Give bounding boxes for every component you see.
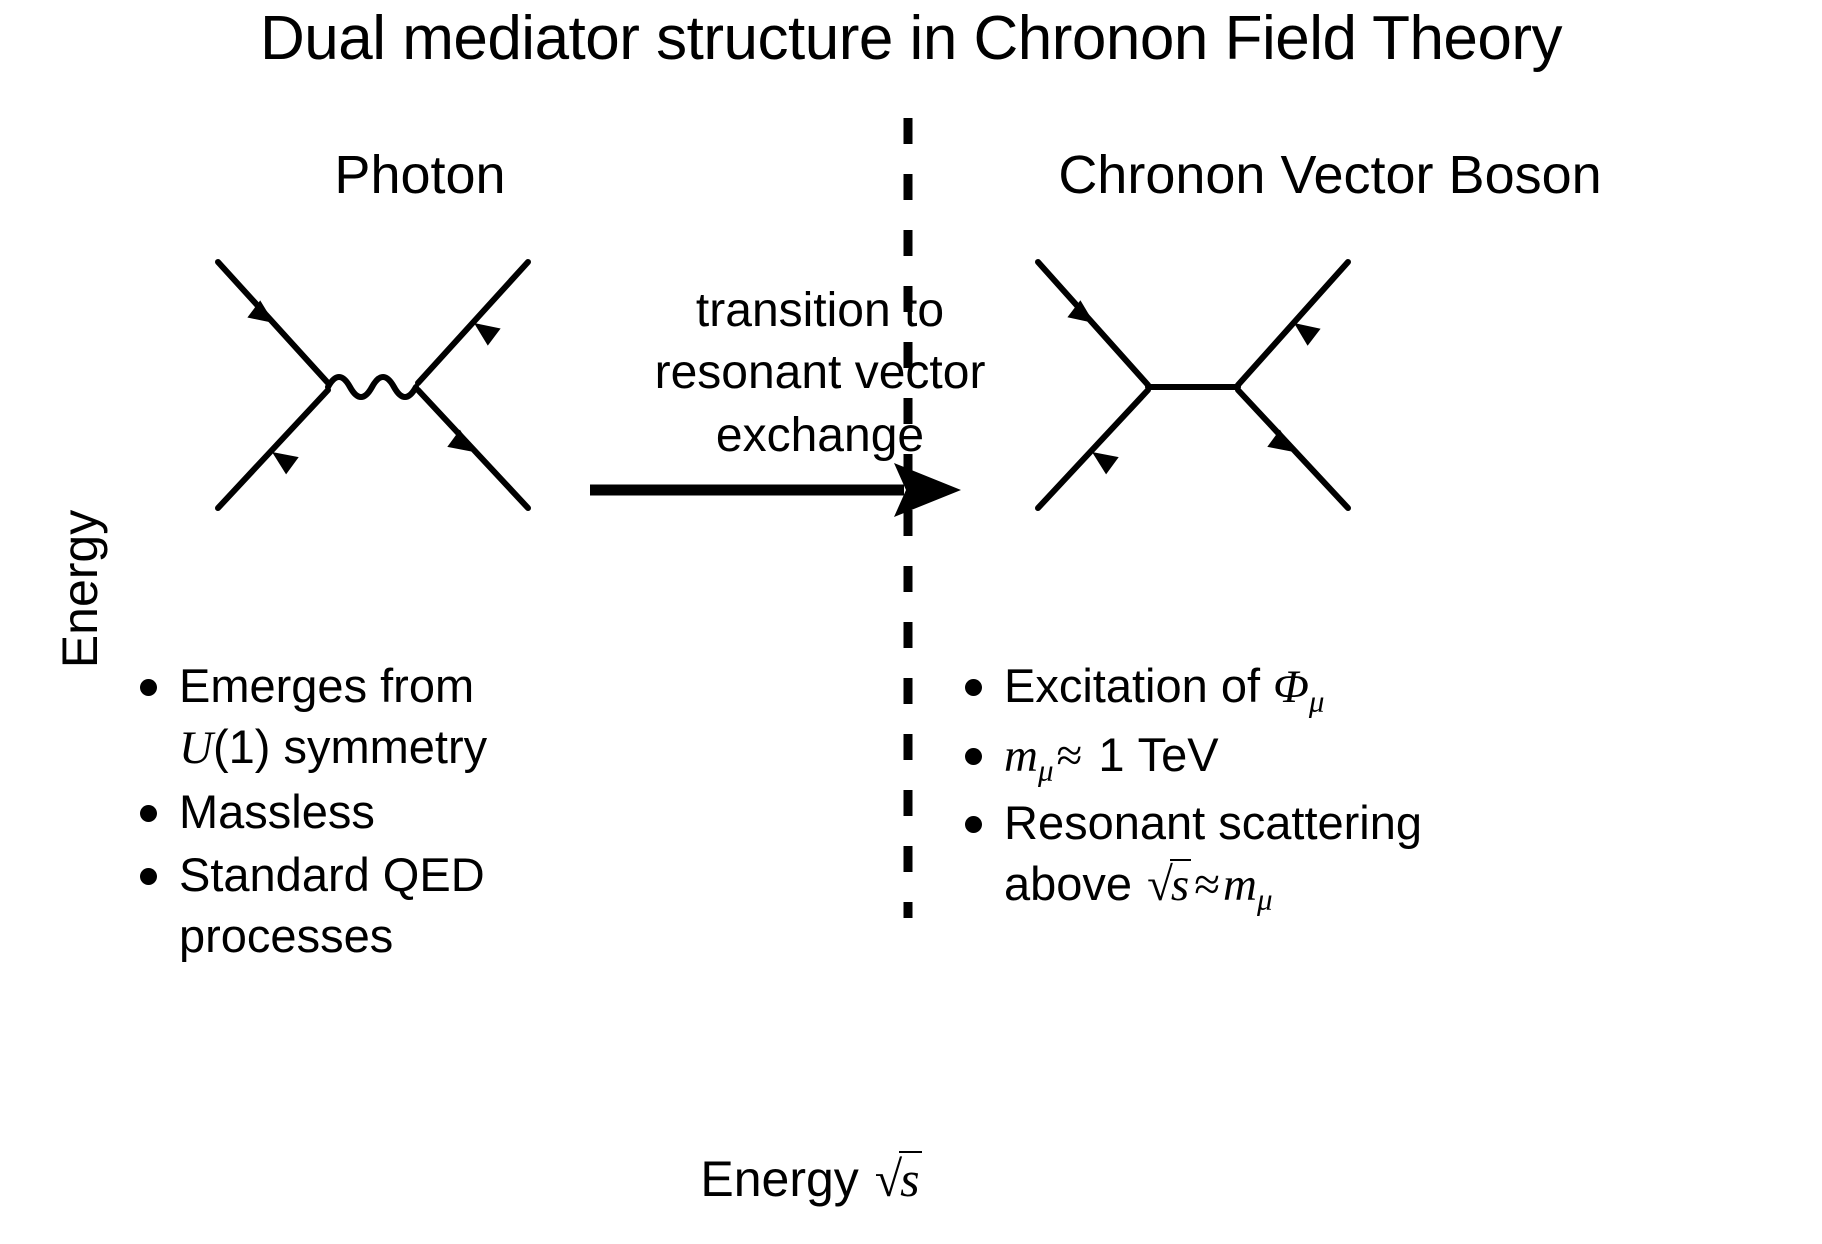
chronon-vector-boson-properties-list: Excitation of Φμ mμ≈ 1 TeV Resonant scat…	[965, 655, 1585, 922]
list-item: Standard QED processes	[140, 844, 600, 966]
leg-upper-right	[1238, 262, 1348, 385]
bullet-dot-icon	[140, 679, 157, 696]
mu-subscript: μ	[1038, 752, 1054, 787]
x-axis-label-text: Energy	[700, 1151, 872, 1207]
bullet-dot-icon	[140, 868, 157, 885]
approx-symbol: ≈	[1191, 859, 1223, 911]
leg-lower-left	[1038, 390, 1148, 508]
mu-subscript: μ	[1257, 882, 1273, 917]
bullet-dot-icon	[965, 816, 982, 833]
list-item: Excitation of Φμ	[965, 655, 1585, 722]
column-heading-chronon-vector-boson: Chronon Vector Boson	[900, 148, 1760, 202]
transition-arrow	[586, 455, 976, 525]
transition-caption-line-1: transition to	[620, 280, 1020, 342]
bullet-prefix: Excitation of	[1004, 659, 1273, 712]
list-item: Massless	[140, 781, 600, 842]
x-axis-label-energy-sqrt-s: Energy √s	[611, 1150, 1011, 1208]
phi-symbol: Φ	[1273, 661, 1309, 713]
column-heading-photon: Photon	[140, 148, 700, 202]
mu-subscript: μ	[1309, 683, 1325, 718]
leg-upper-left	[1038, 262, 1148, 385]
mass-symbol: m	[1004, 730, 1038, 782]
bullet-line-2-pre: above	[1004, 857, 1145, 910]
chronon-vector-boson-exchange-feynman-diagram	[1020, 240, 1380, 530]
bullet-line-1: Standard QED	[179, 848, 485, 901]
list-item: Emerges from U(1) symmetry	[140, 655, 600, 779]
bullet-excitation-of-phi-mu: Excitation of Φμ	[1004, 655, 1585, 722]
list-item: mμ≈ 1 TeV	[965, 724, 1585, 791]
bullet-line-2: (1) symmetry	[213, 720, 487, 773]
leg-lower-right	[1238, 390, 1348, 508]
bullet-emerges-from-u1-symmetry: Emerges from U(1) symmetry	[179, 655, 600, 779]
leg-upper-right	[418, 262, 528, 383]
bullet-resonant-scattering-above-sqrt-s: Resonant scattering above √s≈mμ	[1004, 792, 1585, 920]
sqrt-s-symbol: √s	[1145, 853, 1191, 916]
leg-lower-left	[218, 390, 328, 508]
transition-caption-line-2: resonant vector	[620, 342, 1020, 404]
mass-value: 1 TeV	[1085, 728, 1218, 781]
list-item: Resonant scattering above √s≈mμ	[965, 792, 1585, 920]
photon-exchange-feynman-diagram	[200, 240, 560, 530]
bullet-standard-qed-processes: Standard QED processes	[179, 844, 600, 966]
page-title: Dual mediator structure in Chronon Field…	[0, 8, 1822, 70]
bullet-line-2: processes	[179, 909, 393, 962]
bullet-massless: Massless	[179, 781, 600, 842]
diagram-canvas: Dual mediator structure in Chronon Field…	[0, 0, 1822, 1244]
approx-symbol: ≈	[1054, 730, 1086, 782]
y-axis-label-energy: Energy	[51, 479, 109, 699]
bullet-line-1: Resonant scattering	[1004, 796, 1422, 849]
u1-symbol: U	[179, 722, 213, 774]
bullet-dot-icon	[965, 748, 982, 765]
sqrt-s-symbol: √s	[873, 1150, 922, 1208]
mass-symbol: m	[1223, 859, 1257, 911]
bullet-mass-approx-1-tev: mμ≈ 1 TeV	[1004, 724, 1585, 791]
bullet-line-1: Emerges from	[179, 659, 474, 712]
bullet-dot-icon	[965, 679, 982, 696]
photon-properties-list: Emerges from U(1) symmetry Massless Stan…	[140, 655, 600, 968]
leg-lower-right	[418, 390, 528, 508]
photon-propagator-wavy	[328, 377, 416, 397]
bullet-dot-icon	[140, 805, 157, 822]
transition-caption: transition to resonant vector exchange	[620, 280, 1020, 467]
